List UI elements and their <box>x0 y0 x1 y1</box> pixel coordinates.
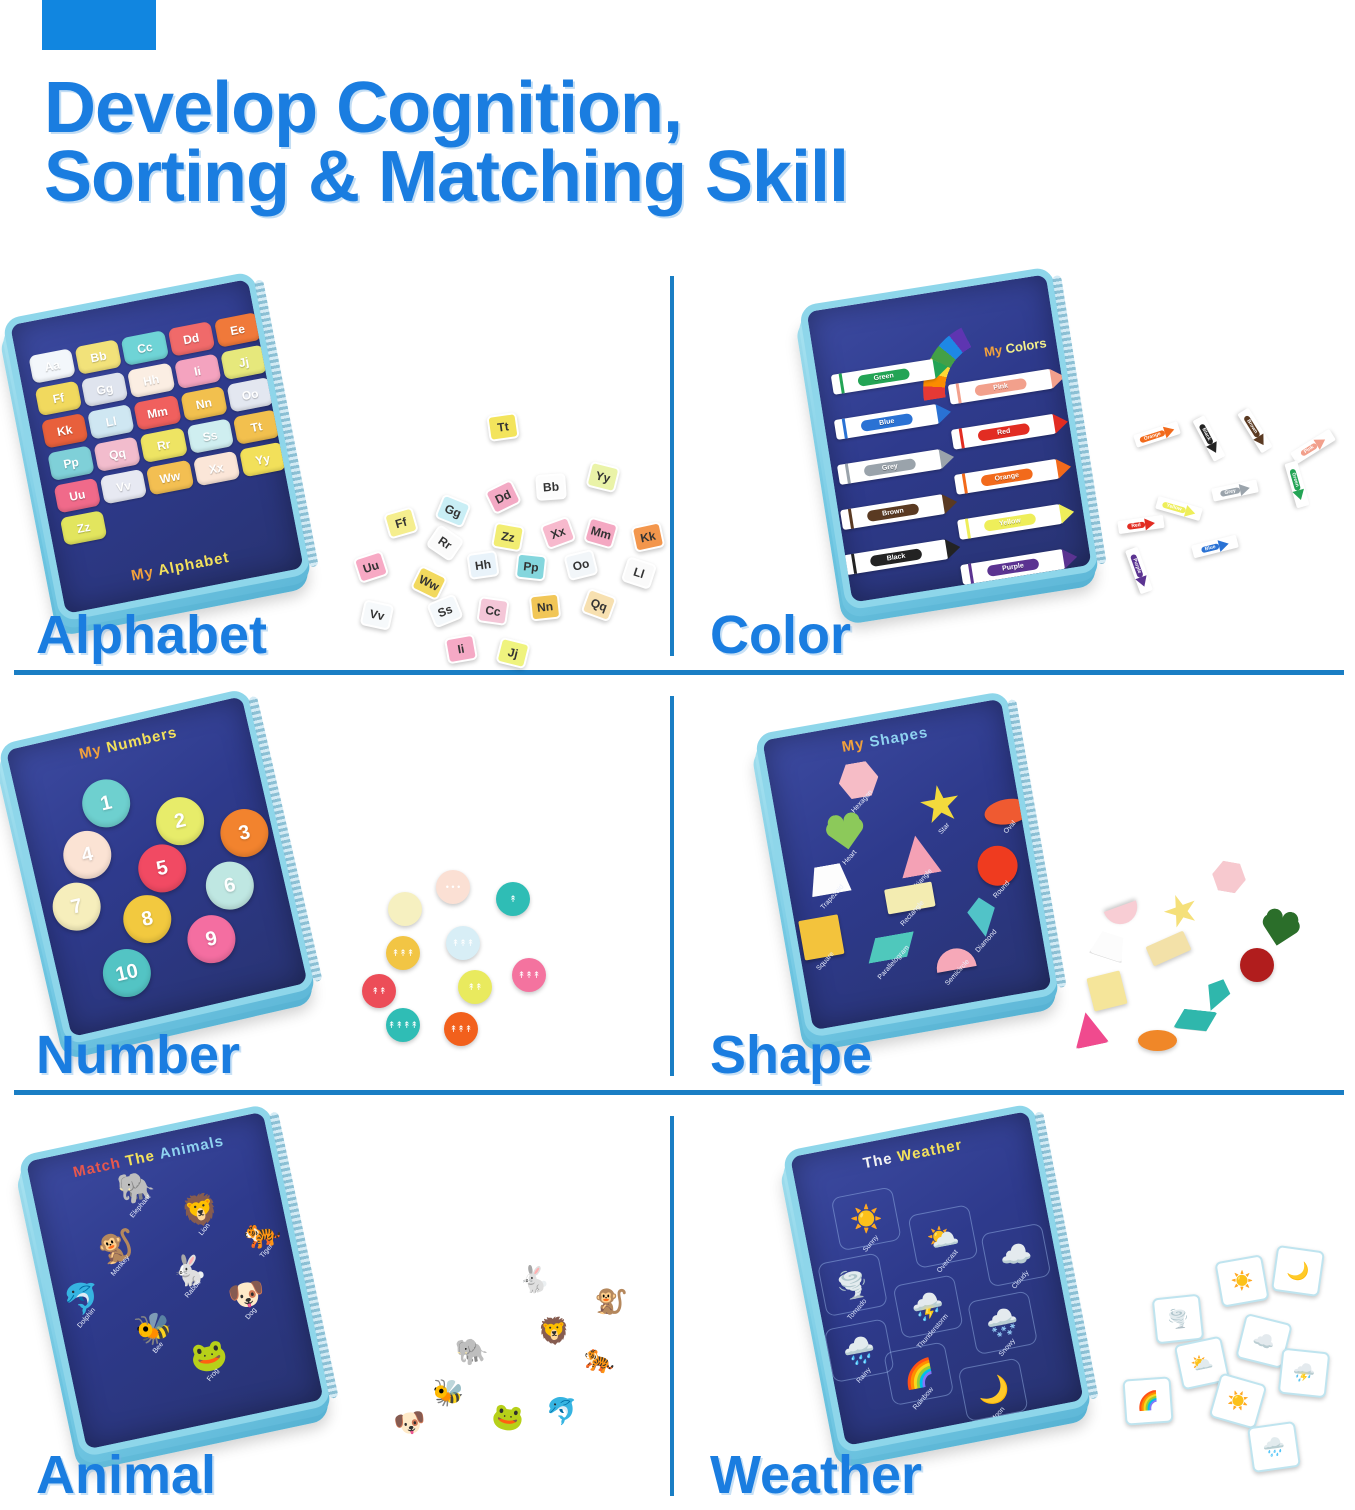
loose-counting-disc[interactable]: ↟↟↟ <box>512 958 546 992</box>
shape-loose-pieces <box>1082 850 1322 1080</box>
shape-slot: Parallelogram <box>864 931 917 963</box>
panel-label-color: Color <box>710 604 851 666</box>
crayon-slot: Blue <box>834 404 940 440</box>
loose-crayon-label: Red <box>1127 521 1145 529</box>
loose-animal-piece[interactable]: 🐒 <box>592 1285 628 1316</box>
alphabet-tile: Xx <box>193 451 241 487</box>
crayon-nib <box>932 357 949 379</box>
crayon-label: Black <box>869 548 922 567</box>
alphabet-tile: Ff <box>35 381 83 417</box>
number-circle: 10 <box>98 944 156 1002</box>
crayon-band <box>848 509 854 529</box>
animal-name: Rabbit <box>184 1280 202 1300</box>
loose-crayon[interactable]: Brown <box>1237 408 1272 454</box>
loose-letter-tile[interactable]: Cc <box>476 596 509 626</box>
weather-name: Cloudy <box>1011 1269 1031 1290</box>
shape-figure-rectangle <box>884 881 936 914</box>
loose-shape-piece[interactable] <box>1145 931 1191 967</box>
loose-letter-tile[interactable]: Tt <box>486 412 519 442</box>
book-title-word-my: My <box>130 564 156 585</box>
shape-slot: Heart <box>821 810 871 857</box>
loose-shape-piece[interactable] <box>1104 901 1142 929</box>
shape-figure-hexagon <box>836 759 882 801</box>
crayon-slot: Yellow <box>957 504 1063 540</box>
loose-letter-tile[interactable]: Oo <box>563 549 598 581</box>
panel-weather: Weather The Weather ☀️Sunny⛅Overcast☁️Cl… <box>682 1114 1342 1510</box>
loose-weather-card[interactable]: 🌪️ <box>1152 1294 1205 1345</box>
loose-animal-piece[interactable]: 🐅 <box>581 1342 619 1375</box>
loose-shape-piece[interactable] <box>1086 970 1127 1011</box>
weather-name: Tornado <box>846 1298 868 1322</box>
alphabet-tile: Ss <box>186 418 234 454</box>
loose-letter-tile[interactable]: Nn <box>529 593 562 622</box>
crayon-nib <box>1144 517 1156 530</box>
loose-animal-piece[interactable]: 🐝 <box>431 1378 466 1407</box>
weather-slot-tornado: 🌪️Tornado <box>817 1252 888 1317</box>
loose-weather-card[interactable]: ⛈️ <box>1278 1348 1331 1399</box>
shape-slot: Round <box>974 843 1020 889</box>
weather-icon: ☁️ <box>997 1237 1035 1274</box>
loose-crayon[interactable]: Red <box>1117 515 1164 534</box>
shape-slot: Square <box>798 914 844 960</box>
crayon-nib <box>942 492 959 514</box>
alphabet-tile: Oo <box>226 377 274 413</box>
loose-letter-tile[interactable]: Xx <box>539 516 576 551</box>
animal-slot-frog: 🐸Frog <box>188 1339 231 1376</box>
alphabet-tile: Yy <box>239 442 287 478</box>
animal-slot-dolphin: 🐬Dolphin <box>61 1282 104 1319</box>
loose-counting-disc[interactable]: ↟↟ <box>458 970 492 1004</box>
grid-divider-vertical-3 <box>670 1116 674 1496</box>
crayon-label: Orange <box>980 467 1033 486</box>
shape-slot: Trapezoid <box>807 862 851 897</box>
loose-crayon-label: Purple <box>1130 554 1144 578</box>
animal-slot-monkey: 🐒Monkey <box>95 1229 138 1266</box>
animal-slot-tiger: 🐅Tiger <box>241 1215 284 1252</box>
loose-crayon[interactable]: Grey <box>1211 479 1259 501</box>
loose-letter-tile[interactable]: Dd <box>484 479 522 516</box>
alphabet-tile-grid: AaBbCcDdEeFfGgHhIiJjKkLlMmNnOoPpQqRrSsTt… <box>28 312 293 546</box>
book-title-word-my: My <box>983 342 1003 360</box>
crayon-slot: Black <box>843 539 949 575</box>
crayon-nib <box>1293 489 1307 502</box>
animal-name: Elephant <box>129 1194 152 1220</box>
shape-figure-round <box>974 843 1020 889</box>
number-circle: 2 <box>151 792 209 850</box>
crayon-nib <box>1184 505 1197 519</box>
loose-letter-tile[interactable]: Zz <box>491 522 525 553</box>
book-title-word-the: The <box>862 1150 894 1172</box>
book-cover-color: My Colors GreenBlueGreyBrownBlackPinkRed… <box>799 266 1100 610</box>
crayon-nib <box>939 447 956 469</box>
weather-slot-rainy: 🌧️Rainy <box>824 1318 895 1383</box>
animal-slot-lion: 🦁Lion <box>179 1193 222 1230</box>
weather-name: Rainy <box>856 1366 873 1384</box>
alphabet-tile: Cc <box>121 330 169 366</box>
loose-letter-tile[interactable]: Rr <box>425 524 464 562</box>
header-accent-bar <box>42 0 156 50</box>
crayon-nib <box>1136 575 1151 589</box>
number-circle: 7 <box>48 878 106 936</box>
page-title-line2: Sorting & Matching Skill <box>44 143 1144 212</box>
animal-name: Tiger <box>259 1243 274 1260</box>
panel-label-animal: Animal <box>36 1444 216 1506</box>
weather-icon: 🌪️ <box>834 1266 872 1303</box>
weather-slot-cloudy: ☁️Cloudy <box>980 1223 1051 1288</box>
crayon-nib <box>936 402 953 424</box>
loose-counting-disc[interactable]: ↟ <box>496 882 530 916</box>
panel-shape: Shape My Shapes HexagonStarOvalHeartTria… <box>682 694 1342 1090</box>
panel-color: Color My Colors GreenBlueGreyBrownBlackP… <box>682 274 1342 670</box>
shape-slot: Star <box>917 782 963 828</box>
crayon-band <box>956 383 962 403</box>
number-circle: 4 <box>59 826 117 884</box>
loose-letter-tile[interactable]: Ii <box>444 634 478 665</box>
loose-crayon[interactable]: Green <box>1284 461 1309 509</box>
loose-shape-piece[interactable] <box>1195 973 1239 1017</box>
book-title-word-weather: Weather <box>896 1136 964 1165</box>
weather-slot-rainbow: 🌈Rainbow <box>883 1341 954 1406</box>
loose-animal-piece[interactable]: 🦁 <box>537 1317 571 1345</box>
crayon-label: Grey <box>863 458 916 477</box>
number-circle: 3 <box>216 804 274 862</box>
crayon-nib <box>1049 367 1066 389</box>
loose-letter-tile[interactable]: Hh <box>466 550 499 580</box>
weather-icon: 🌙 <box>974 1371 1012 1408</box>
loose-crayon-label: Blue <box>1200 543 1220 553</box>
alphabet-tile: Gg <box>81 372 129 408</box>
loose-animal-piece[interactable]: 🐶 <box>392 1407 428 1438</box>
weather-icon: 🌈 <box>900 1355 938 1392</box>
loose-weather-card[interactable]: ☀️ <box>1214 1254 1269 1308</box>
crayon-slot: Orange <box>954 459 1060 495</box>
weather-slot-area: ☀️Sunny⛅Overcast☁️Cloudy🌪️Tornado⛈️Thund… <box>811 1150 1084 1439</box>
crayon-label: Blue <box>860 412 913 431</box>
alphabet-tile: Nn <box>180 386 228 422</box>
animal-slot-rabbit: 🐇Rabbit <box>167 1253 210 1290</box>
alphabet-tile: Jj <box>220 344 268 380</box>
color-book: My Colors GreenBlueGreyBrownBlackPinkRed… <box>799 266 1106 623</box>
shape-slot: Semicircle <box>934 945 977 972</box>
loose-counting-disc[interactable] <box>388 892 422 926</box>
grid-divider-horizontal-1 <box>14 670 1344 675</box>
loose-letter-tile[interactable]: Bb <box>535 473 567 501</box>
shape-book: My Shapes HexagonStarOvalHeartTriangleRo… <box>754 690 1066 1050</box>
alphabet-book: AaBbCcDdEeFfGgHhIiJjKkLlMmNnOoPpQqRrSsTt… <box>2 270 318 634</box>
loose-crayon[interactable]: Black <box>1192 415 1225 462</box>
crayon-band <box>845 464 851 484</box>
loose-weather-card[interactable]: 🌈 <box>1122 1376 1173 1425</box>
crayon-nib <box>1053 412 1070 434</box>
crayon-band <box>965 518 971 538</box>
loose-shape-piece[interactable] <box>1173 1008 1217 1033</box>
alphabet-tile: Vv <box>100 469 148 505</box>
number-circle: 9 <box>183 910 241 968</box>
animal-name: Frog <box>206 1367 221 1383</box>
alphabet-tile: Ww <box>146 460 194 496</box>
panel-animal: Animal Match The Animals 🐘Elephant🦁Lion🐅… <box>8 1114 668 1510</box>
shape-figure-trapezoid <box>807 862 851 897</box>
alphabet-tile: Ee <box>214 312 262 348</box>
crayon-band <box>968 564 974 584</box>
loose-shape-piece[interactable] <box>1089 929 1129 963</box>
panel-number: Number My Numbers 12345678910 • • •↟↟↟↟↟… <box>8 694 668 1090</box>
alphabet-tile: Hh <box>127 363 175 399</box>
shape-slot: Triangle <box>895 832 941 878</box>
alphabet-tile: Rr <box>140 427 188 463</box>
alphabet-tile: Zz <box>60 510 108 546</box>
crayon-label: Pink <box>974 377 1027 396</box>
loose-letter-tile[interactable]: Uu <box>353 550 390 584</box>
weather-slot-thunderstorm: ⛈️Thunderstorm <box>893 1274 964 1339</box>
weather-icon: ☀️ <box>847 1201 885 1238</box>
loose-counting-disc[interactable]: ↟↟↟ <box>446 926 480 960</box>
crayon-band <box>959 428 965 448</box>
loose-counting-disc[interactable]: ↟↟↟ <box>444 1012 478 1046</box>
shape-slot: Diamond <box>959 894 1005 940</box>
alphabet-tile: Bb <box>75 339 123 375</box>
panel-label-weather: Weather <box>710 1444 922 1506</box>
weather-name: Sunny <box>862 1234 880 1254</box>
weather-name: Moon <box>990 1406 1007 1424</box>
crayon-slot-area: My Colors GreenBlueGreyBrownBlackPinkRed… <box>822 321 1098 603</box>
loose-animal-piece[interactable]: 🐸 <box>490 1402 526 1432</box>
loose-shape-piece[interactable] <box>1069 1009 1109 1049</box>
crayon-label: Green <box>857 367 910 386</box>
weather-book: The Weather ☀️Sunny⛅Overcast☁️Cloudy🌪️To… <box>782 1102 1098 1466</box>
crayon-slot: Green <box>831 359 937 395</box>
number-circle: 1 <box>77 775 135 833</box>
loose-letter-tile[interactable]: Jj <box>495 637 530 669</box>
shape-figure-square <box>798 914 844 960</box>
crayon-nib <box>1059 502 1076 524</box>
alphabet-tile: Uu <box>54 478 102 514</box>
crayon-nib <box>1062 547 1079 569</box>
alphabet-loose-tiles: TtYyBbDdGgFfRrZzXxMmKkUuWwHhPpOoLlVvSsCc… <box>338 402 638 670</box>
shape-slot: Hexagon <box>836 759 882 801</box>
book-title-word-the: The <box>124 1147 157 1170</box>
loose-animal-piece[interactable]: 🐬 <box>545 1396 580 1425</box>
crayon-nib <box>1238 482 1250 496</box>
crayon-slot: Grey <box>837 449 943 485</box>
loose-shape-piece[interactable] <box>1138 1030 1177 1051</box>
alphabet-tile: Kk <box>41 413 89 449</box>
alphabet-tile: Tt <box>233 409 281 445</box>
loose-crayon-label: Yellow <box>1162 501 1186 513</box>
alphabet-tile: Mm <box>134 395 182 431</box>
weather-icon: 🌨️ <box>984 1304 1022 1341</box>
grid-divider-vertical-1 <box>670 276 674 656</box>
weather-icon: 🌧️ <box>840 1332 878 1369</box>
loose-crayon-label: Brown <box>1244 415 1262 438</box>
loose-counting-disc[interactable]: ↟↟ <box>362 974 396 1008</box>
weather-slot-moon: 🌙Moon <box>958 1357 1029 1422</box>
number-circle: 8 <box>118 890 176 948</box>
loose-shape-piece[interactable] <box>1159 889 1203 933</box>
loose-letter-tile[interactable]: Gg <box>434 493 472 528</box>
number-book: My Numbers 12345678910 <box>0 687 323 1057</box>
loose-animal-piece[interactable]: 🐘 <box>454 1335 491 1367</box>
animal-loose-pieces: 🐇🐒🦁🐅🐘🐝🐶🐸🐬 <box>388 1262 638 1502</box>
crayon-label: Red <box>977 422 1030 441</box>
loose-counting-disc[interactable]: ↟↟↟↟ <box>386 1008 420 1042</box>
animal-name: Monkey <box>110 1254 131 1277</box>
panel-label-alphabet: Alphabet <box>36 604 267 666</box>
loose-counting-disc[interactable]: • • • <box>436 870 470 904</box>
animal-slot-elephant: 🐘Elephant <box>115 1170 158 1207</box>
loose-crayon-label: Pink <box>1299 442 1318 457</box>
crayon-label: Purple <box>986 557 1039 576</box>
loose-crayon-label: Black <box>1199 423 1214 445</box>
loose-animal-piece[interactable]: 🐇 <box>516 1264 552 1294</box>
shape-figure-heart <box>821 810 871 857</box>
loose-letter-tile[interactable]: Mm <box>583 516 619 549</box>
shape-figure-star <box>917 782 963 828</box>
color-loose-crayons: OrangeBlackBrownPinkGreyGreenYellowRedBl… <box>1112 422 1332 632</box>
loose-letter-tile[interactable]: Ll <box>621 556 658 590</box>
loose-crayon-label: Green <box>1290 468 1302 491</box>
loose-letter-tile[interactable]: Ww <box>410 565 448 602</box>
crayon-slot: Red <box>951 414 1057 450</box>
crayon-nib <box>1056 457 1073 479</box>
loose-crayon[interactable]: Orange <box>1133 421 1181 448</box>
loose-shape-piece[interactable] <box>1240 948 1274 982</box>
crayon-band <box>842 418 848 438</box>
alphabet-tile: Pp <box>47 445 95 481</box>
shape-figure-diamond <box>959 894 1005 940</box>
weather-slot-snowy: 🌨️Snowy <box>967 1290 1038 1355</box>
loose-letter-tile[interactable]: Yy <box>585 461 620 493</box>
alphabet-tile: Ll <box>87 404 135 440</box>
loose-weather-card[interactable]: 🌧️ <box>1247 1421 1301 1473</box>
shape-slot-area: HexagonStarOvalHeartTriangleRoundTrapezo… <box>778 731 1058 1028</box>
loose-counting-disc[interactable]: ↟↟↟ <box>386 936 420 970</box>
animal-name: Dog <box>244 1307 258 1321</box>
feature-grid: Alphabet AaBbCcDdEeFfGgHhIiJjKkLlMmNnOoP… <box>0 272 1355 1500</box>
alphabet-tile: Ii <box>174 353 222 389</box>
crayon-band <box>851 554 857 574</box>
crayon-band <box>839 373 845 393</box>
panel-label-number: Number <box>36 1024 240 1086</box>
weather-name: Snowy <box>998 1337 1017 1357</box>
loose-shape-piece[interactable] <box>1254 906 1305 954</box>
animal-slot-bee: 🐝Bee <box>133 1311 176 1348</box>
loose-crayon-label: Orange <box>1139 429 1165 443</box>
number-loose-discs: • • •↟↟↟↟↟↟↟↟↟↟↟↟↟↟↟↟↟↟↟↟↟ <box>368 852 618 1072</box>
loose-letter-tile[interactable]: Kk <box>631 521 666 553</box>
number-circle: 6 <box>201 857 259 915</box>
crayon-label: Brown <box>866 503 919 522</box>
book-title-word-my: My <box>841 735 866 756</box>
crayon-label: Yellow <box>983 512 1036 531</box>
grid-divider-horizontal-2 <box>14 1090 1344 1095</box>
crayon-nib <box>1163 423 1176 438</box>
book-title-word-alphabet: Alphabet <box>157 549 231 579</box>
weather-slot-sunny: ☀️Sunny <box>831 1186 902 1251</box>
book-title-word-numbers: Numbers <box>105 724 179 757</box>
weather-slot-overcast: ⛅Overcast <box>907 1204 978 1269</box>
shape-slot: Rectangle <box>884 881 936 914</box>
weather-loose-cards: ☀️🌙🌪️☁️⛅⛈️🌈☀️🌧️ <box>1102 1254 1332 1504</box>
shape-figure-triangle <box>895 832 941 878</box>
loose-crayon[interactable]: Blue <box>1191 535 1239 559</box>
alphabet-tile: Qq <box>94 436 142 472</box>
crayon-slot: Brown <box>840 494 946 530</box>
page-title-line1: Develop Cognition, <box>44 68 682 148</box>
book-title-word-my: My <box>78 741 104 763</box>
page-title: Develop Cognition, Sorting & Matching Sk… <box>44 74 1144 212</box>
crayon-nib <box>1218 537 1231 551</box>
shape-name: Star <box>937 822 951 836</box>
loose-crayon[interactable]: Pink <box>1290 429 1336 464</box>
loose-letter-tile[interactable]: Ff <box>383 506 419 539</box>
alphabet-tile: Aa <box>28 348 76 384</box>
animal-slot-dog: 🐶Dog <box>226 1277 269 1314</box>
loose-weather-card[interactable]: 🌙 <box>1271 1245 1325 1297</box>
crayon-band <box>962 473 968 493</box>
loose-crayon[interactable]: Purple <box>1125 547 1153 595</box>
panel-alphabet: Alphabet AaBbCcDdEeFfGgHhIiJjKkLlMmNnOoP… <box>8 274 668 670</box>
animal-name: Dolphin <box>76 1307 97 1330</box>
grid-divider-vertical-2 <box>670 696 674 1076</box>
loose-letter-tile[interactable]: Pp <box>515 553 548 582</box>
animal-book: Match The Animals 🐘Elephant🦁Lion🐅Tiger🐒M… <box>18 1102 339 1469</box>
animal-name: Lion <box>198 1222 212 1237</box>
panel-label-shape: Shape <box>710 1024 872 1086</box>
loose-crayon-label: Grey <box>1220 487 1240 497</box>
loose-shape-piece[interactable] <box>1210 859 1249 894</box>
loose-letter-tile[interactable]: Qq <box>580 588 617 623</box>
crayon-nib <box>945 537 962 559</box>
loose-letter-tile[interactable]: Vv <box>360 599 395 631</box>
animal-name: Bee <box>151 1341 164 1355</box>
alphabet-tile: Dd <box>167 321 215 357</box>
number-circle: 5 <box>133 840 191 898</box>
